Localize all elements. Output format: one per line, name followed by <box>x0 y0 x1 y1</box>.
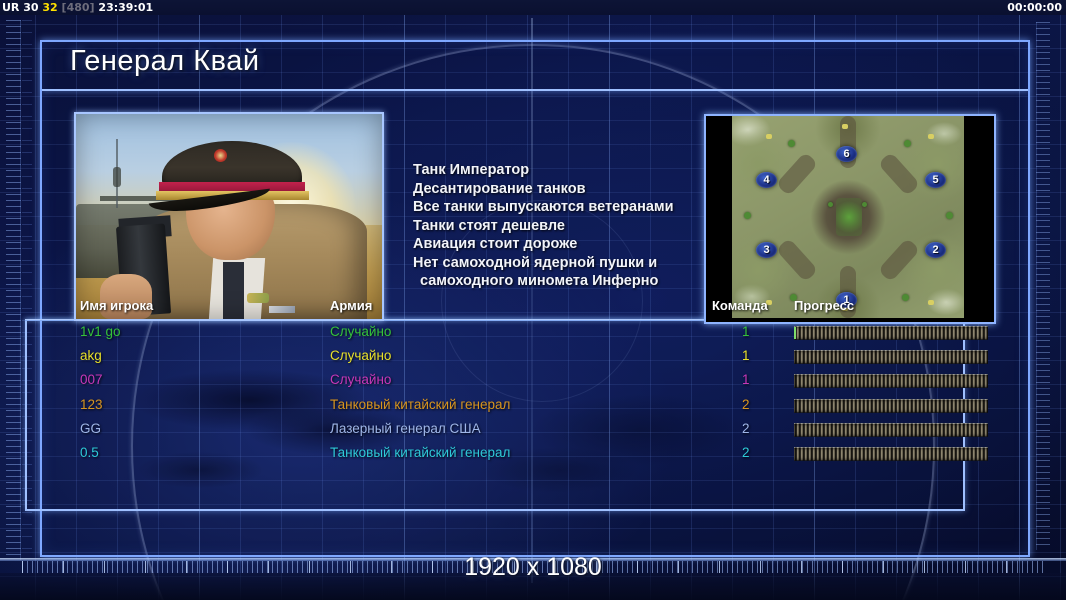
ruler-right <box>1036 22 1050 550</box>
player-army: Лазерный генерал США <box>330 421 481 436</box>
player-army: Танковый китайский генерал <box>330 445 510 460</box>
player-team: 2 <box>742 397 750 412</box>
map-start-position: 4 <box>756 172 777 188</box>
column-header-army: Армия <box>330 298 372 313</box>
status-bar-left: UR 30 32 [480] 23:39:01 <box>2 0 153 15</box>
column-header-name: Имя игрока <box>80 298 153 313</box>
column-header-team: Команда <box>712 298 768 313</box>
ability-line: Десантирование танков <box>413 180 693 199</box>
column-header-progress: Прогресс <box>794 298 854 313</box>
ruler-left <box>6 20 21 560</box>
player-progress-bar <box>794 350 988 364</box>
general-portrait <box>74 112 384 321</box>
status-timer: 00:00:00 <box>1007 0 1062 15</box>
player-name: GG <box>80 421 101 436</box>
status-value: 32 <box>42 1 57 14</box>
map-start-position: 6 <box>836 146 857 162</box>
player-team: 2 <box>742 445 750 460</box>
player-progress-bar <box>794 447 988 461</box>
table-row: 1v1 go Случайно 1 <box>36 322 956 346</box>
player-list: 1v1 go Случайно 1 akg Случайно 1 007 Слу… <box>36 322 956 467</box>
status-clock: 23:39:01 <box>98 1 153 14</box>
portrait-vignette <box>76 114 382 319</box>
player-progress-bar <box>794 423 988 437</box>
ability-line: Танки стоят дешевле <box>413 217 693 236</box>
table-row: GG Лазерный генерал США 2 <box>36 419 956 443</box>
ability-line: Танк Император <box>413 161 693 180</box>
table-row: 123 Танковый китайский генерал 2 <box>36 395 956 419</box>
map-start-position: 2 <box>925 242 946 258</box>
player-name: 0.5 <box>80 445 99 460</box>
table-row: 007 Случайно 1 <box>36 370 956 394</box>
player-team: 1 <box>742 372 750 387</box>
player-team: 2 <box>742 421 750 436</box>
map-preview-image: 1 2 3 4 5 6 <box>732 116 964 318</box>
general-abilities-list: Танк Император Десантирование танков Все… <box>413 161 693 291</box>
player-name: 007 <box>80 372 103 387</box>
status-bracket: [480] <box>62 1 95 14</box>
map-center-base <box>836 198 862 236</box>
player-progress-bar <box>794 399 988 413</box>
map-start-position: 5 <box>925 172 946 188</box>
ability-line: Нет самоходной ядерной пушки и <box>413 254 693 273</box>
player-team: 1 <box>742 324 750 339</box>
player-army: Танковый китайский генерал <box>330 397 510 412</box>
portrait-artwork <box>76 114 382 319</box>
resolution-label: 1920 x 1080 <box>0 553 1066 582</box>
table-row: akg Случайно 1 <box>36 346 956 370</box>
player-army: Случайно <box>330 372 391 387</box>
player-name: 1v1 go <box>80 324 121 339</box>
ability-line: Авиация стоит дороже <box>413 235 693 254</box>
title-bar: Генерал Квай <box>42 42 1028 91</box>
status-bar: UR 30 32 [480] 23:39:01 00:00:00 <box>0 0 1066 15</box>
ability-line: Все танки выпускаются ветеранами <box>413 198 693 217</box>
table-row: 0.5 Танковый китайский генерал 2 <box>36 443 956 467</box>
loading-screen: UR 30 32 [480] 23:39:01 00:00:00 Генерал… <box>0 0 1066 600</box>
ability-line: самоходного миномета Инферно <box>413 272 693 291</box>
player-table-header: Имя игрока Армия Команда Прогресс <box>36 298 956 320</box>
page-title: Генерал Квай <box>70 45 260 78</box>
player-name: akg <box>80 348 102 363</box>
player-army: Случайно <box>330 324 391 339</box>
player-name: 123 <box>80 397 103 412</box>
map-preview: 1 2 3 4 5 6 <box>704 114 996 324</box>
player-progress-bar <box>794 374 988 388</box>
player-army: Случайно <box>330 348 391 363</box>
status-label: UR 30 <box>2 1 39 14</box>
player-progress-bar <box>794 326 988 340</box>
player-team: 1 <box>742 348 750 363</box>
map-start-position: 3 <box>756 242 777 258</box>
